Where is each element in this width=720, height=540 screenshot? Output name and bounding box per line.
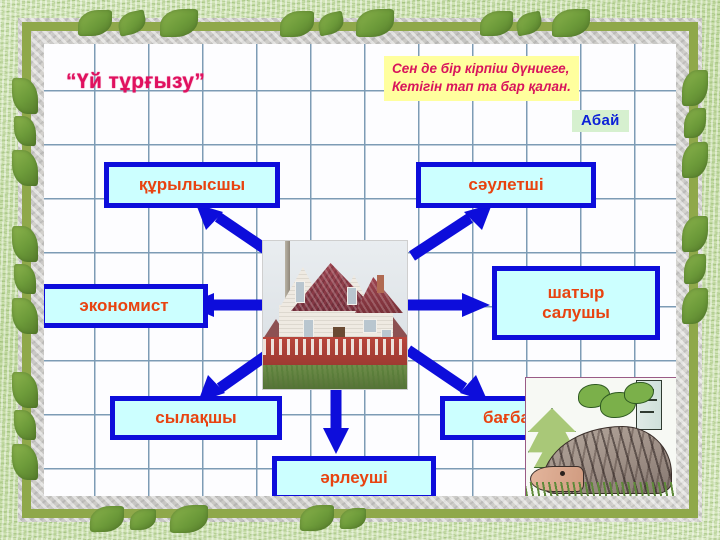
quote-line-1: Сен де бір кірпіш дүниеге, [392, 60, 571, 78]
node-label-line-2: салушы [542, 303, 610, 323]
node-shatyr-salushy[interactable]: шатыр салушы [492, 266, 660, 340]
page-title: “Үй тұрғызу” [66, 70, 205, 94]
node-label: құрылысшы [139, 175, 245, 195]
quote-block: Сен де бір кірпіш дүниеге, Кетігін тап т… [384, 56, 579, 101]
node-label: әрлеуші [320, 468, 388, 488]
photo-window [347, 287, 357, 305]
node-sylaqshy[interactable]: сылақшы [110, 396, 282, 440]
photo-grass [263, 365, 408, 389]
node-label: сылақшы [155, 408, 236, 428]
node-label-line-1: шатыр [548, 283, 605, 303]
photo-fence-lattice [263, 339, 408, 355]
photo-chimney [377, 275, 384, 293]
node-label: сәулетші [468, 175, 543, 195]
photo-window [363, 319, 377, 333]
illustration-grass [526, 482, 676, 496]
slide-root: “Үй тұрғызу” Сен де бір кірпіш дүниеге, … [0, 0, 720, 540]
node-label: экономист [79, 296, 168, 316]
arrow-to-shatyr [406, 292, 492, 318]
quote-author: Абай [572, 110, 629, 132]
quote-line-2: Кетігін тап та бар қалан. [392, 78, 571, 96]
hedgehog-illustration [525, 377, 676, 496]
arrow-to-arleushi [322, 384, 350, 456]
photo-window [295, 281, 305, 303]
hedgehog-eye [560, 471, 565, 476]
node-sauletshi[interactable]: сәулетші [416, 162, 596, 208]
house-photo [262, 240, 408, 390]
arrow-to-sauletshi [404, 200, 496, 262]
node-qurylysshy[interactable]: құрылысшы [104, 162, 280, 208]
node-arleushi[interactable]: әрлеуші [272, 456, 436, 496]
grid-board: “Үй тұрғызу” Сен де бір кірпіш дүниеге, … [44, 44, 676, 496]
node-ekonomist[interactable]: экономист [44, 284, 208, 328]
